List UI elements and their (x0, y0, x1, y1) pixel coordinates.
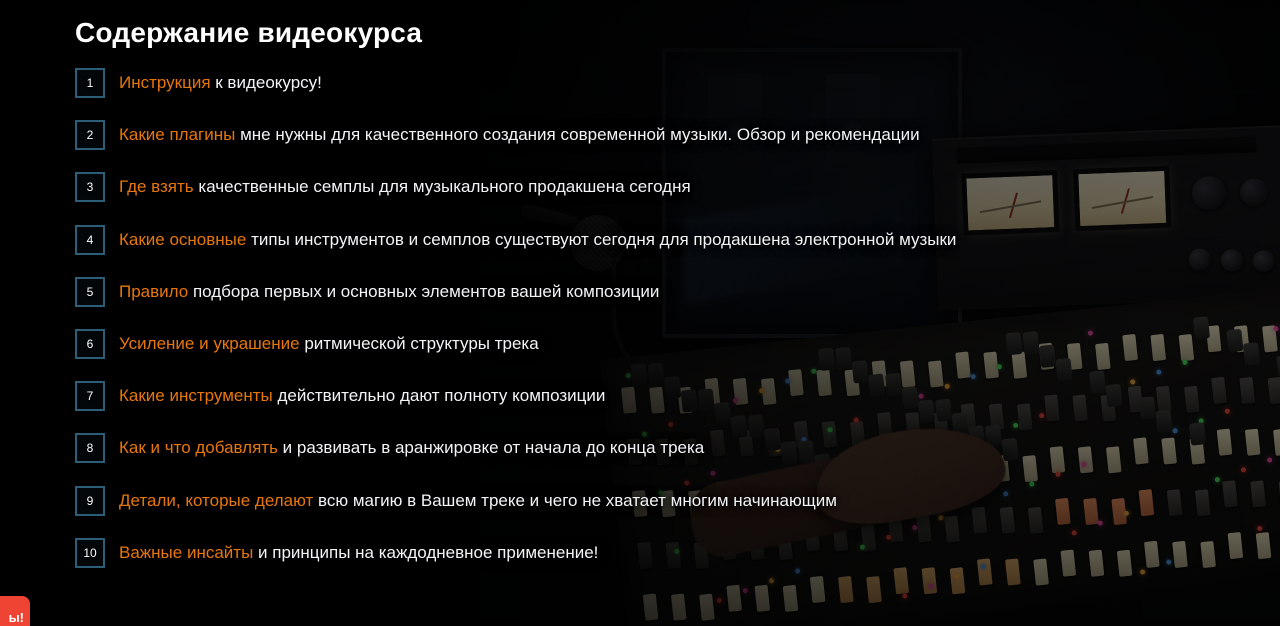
list-item-number: 4 (75, 225, 105, 255)
list-item[interactable]: 10Важные инсайты и принципы на каждоднев… (75, 538, 1075, 568)
list-item-highlight: Какие плагины (119, 125, 235, 144)
list-item-highlight: Какие инструменты (119, 386, 273, 405)
list-item-highlight: Усиление и украшение (119, 334, 300, 353)
list-item-text: Усиление и украшение ритмической структу… (119, 334, 539, 354)
list-item-number: 2 (75, 120, 105, 150)
list-item-highlight: Как и что добавлять (119, 438, 278, 457)
cta-button-label: ы! (9, 610, 24, 625)
list-item-text: Инструкция к видеокурсу! (119, 73, 322, 93)
list-item-rest: типы инструментов и семплов существуют с… (246, 230, 956, 249)
list-item-rest: мне нужны для качественного создания сов… (235, 125, 919, 144)
list-item-text: Правило подбора первых и основных элемен… (119, 282, 659, 302)
list-item-number: 5 (75, 277, 105, 307)
list-item-highlight: Инструкция (119, 73, 211, 92)
list-item[interactable]: 8Как и что добавлять и развивать в аранж… (75, 433, 1075, 463)
list-item[interactable]: 5Правило подбора первых и основных элеме… (75, 277, 1075, 307)
list-item-text: Важные инсайты и принципы на каждодневно… (119, 543, 598, 563)
list-item-rest: к видеокурсу! (211, 73, 322, 92)
list-item-text: Где взять качественные семплы для музыка… (119, 177, 691, 197)
list-item-text: Какие инструменты действительно дают пол… (119, 386, 605, 406)
list-item[interactable]: 9Детали, которые делают всю магию в Ваше… (75, 486, 1075, 516)
course-contents-section: Содержание видеокурса 1Инструкция к виде… (0, 0, 1280, 626)
list-item-rest: качественные семплы для музыкального про… (194, 177, 691, 196)
list-item-text: Как и что добавлять и развивать в аранжи… (119, 438, 704, 458)
content-layer: Содержание видеокурса 1Инструкция к виде… (0, 0, 1280, 626)
list-item[interactable]: 1Инструкция к видеокурсу! (75, 68, 1075, 98)
cta-button-clipped[interactable]: ы! (0, 596, 30, 626)
list-item-text: Какие плагины мне нужны для качественног… (119, 125, 920, 145)
course-contents-list: 1Инструкция к видеокурсу!2Какие плагины … (75, 68, 1075, 590)
list-item-highlight: Важные инсайты (119, 543, 253, 562)
list-item-rest: действительно дают полноту композиции (273, 386, 606, 405)
list-item[interactable]: 7Какие инструменты действительно дают по… (75, 381, 1075, 411)
list-item-highlight: Правило (119, 282, 188, 301)
list-item[interactable]: 4Какие основные типы инструментов и семп… (75, 225, 1075, 255)
list-item-number: 1 (75, 68, 105, 98)
list-item-number: 3 (75, 172, 105, 202)
page-title: Содержание видеокурса (75, 17, 422, 49)
list-item[interactable]: 2Какие плагины мне нужны для качественно… (75, 120, 1075, 150)
list-item-rest: всю магию в Вашем треке и чего не хватае… (313, 491, 837, 510)
list-item-rest: подбора первых и основных элементов ваше… (188, 282, 659, 301)
list-item-number: 9 (75, 486, 105, 516)
list-item-number: 6 (75, 329, 105, 359)
list-item-text: Детали, которые делают всю магию в Вашем… (119, 491, 837, 511)
list-item-rest: и развивать в аранжировке от начала до к… (278, 438, 704, 457)
list-item-highlight: Какие основные (119, 230, 246, 249)
list-item[interactable]: 3Где взять качественные семплы для музык… (75, 172, 1075, 202)
list-item-number: 7 (75, 381, 105, 411)
list-item-number: 10 (75, 538, 105, 568)
list-item-number: 8 (75, 433, 105, 463)
list-item[interactable]: 6Усиление и украшение ритмической структ… (75, 329, 1075, 359)
list-item-rest: ритмической структуры трека (300, 334, 539, 353)
list-item-rest: и принципы на каждодневное применение! (253, 543, 598, 562)
list-item-highlight: Где взять (119, 177, 194, 196)
list-item-text: Какие основные типы инструментов и семпл… (119, 230, 956, 250)
list-item-highlight: Детали, которые делают (119, 491, 313, 510)
